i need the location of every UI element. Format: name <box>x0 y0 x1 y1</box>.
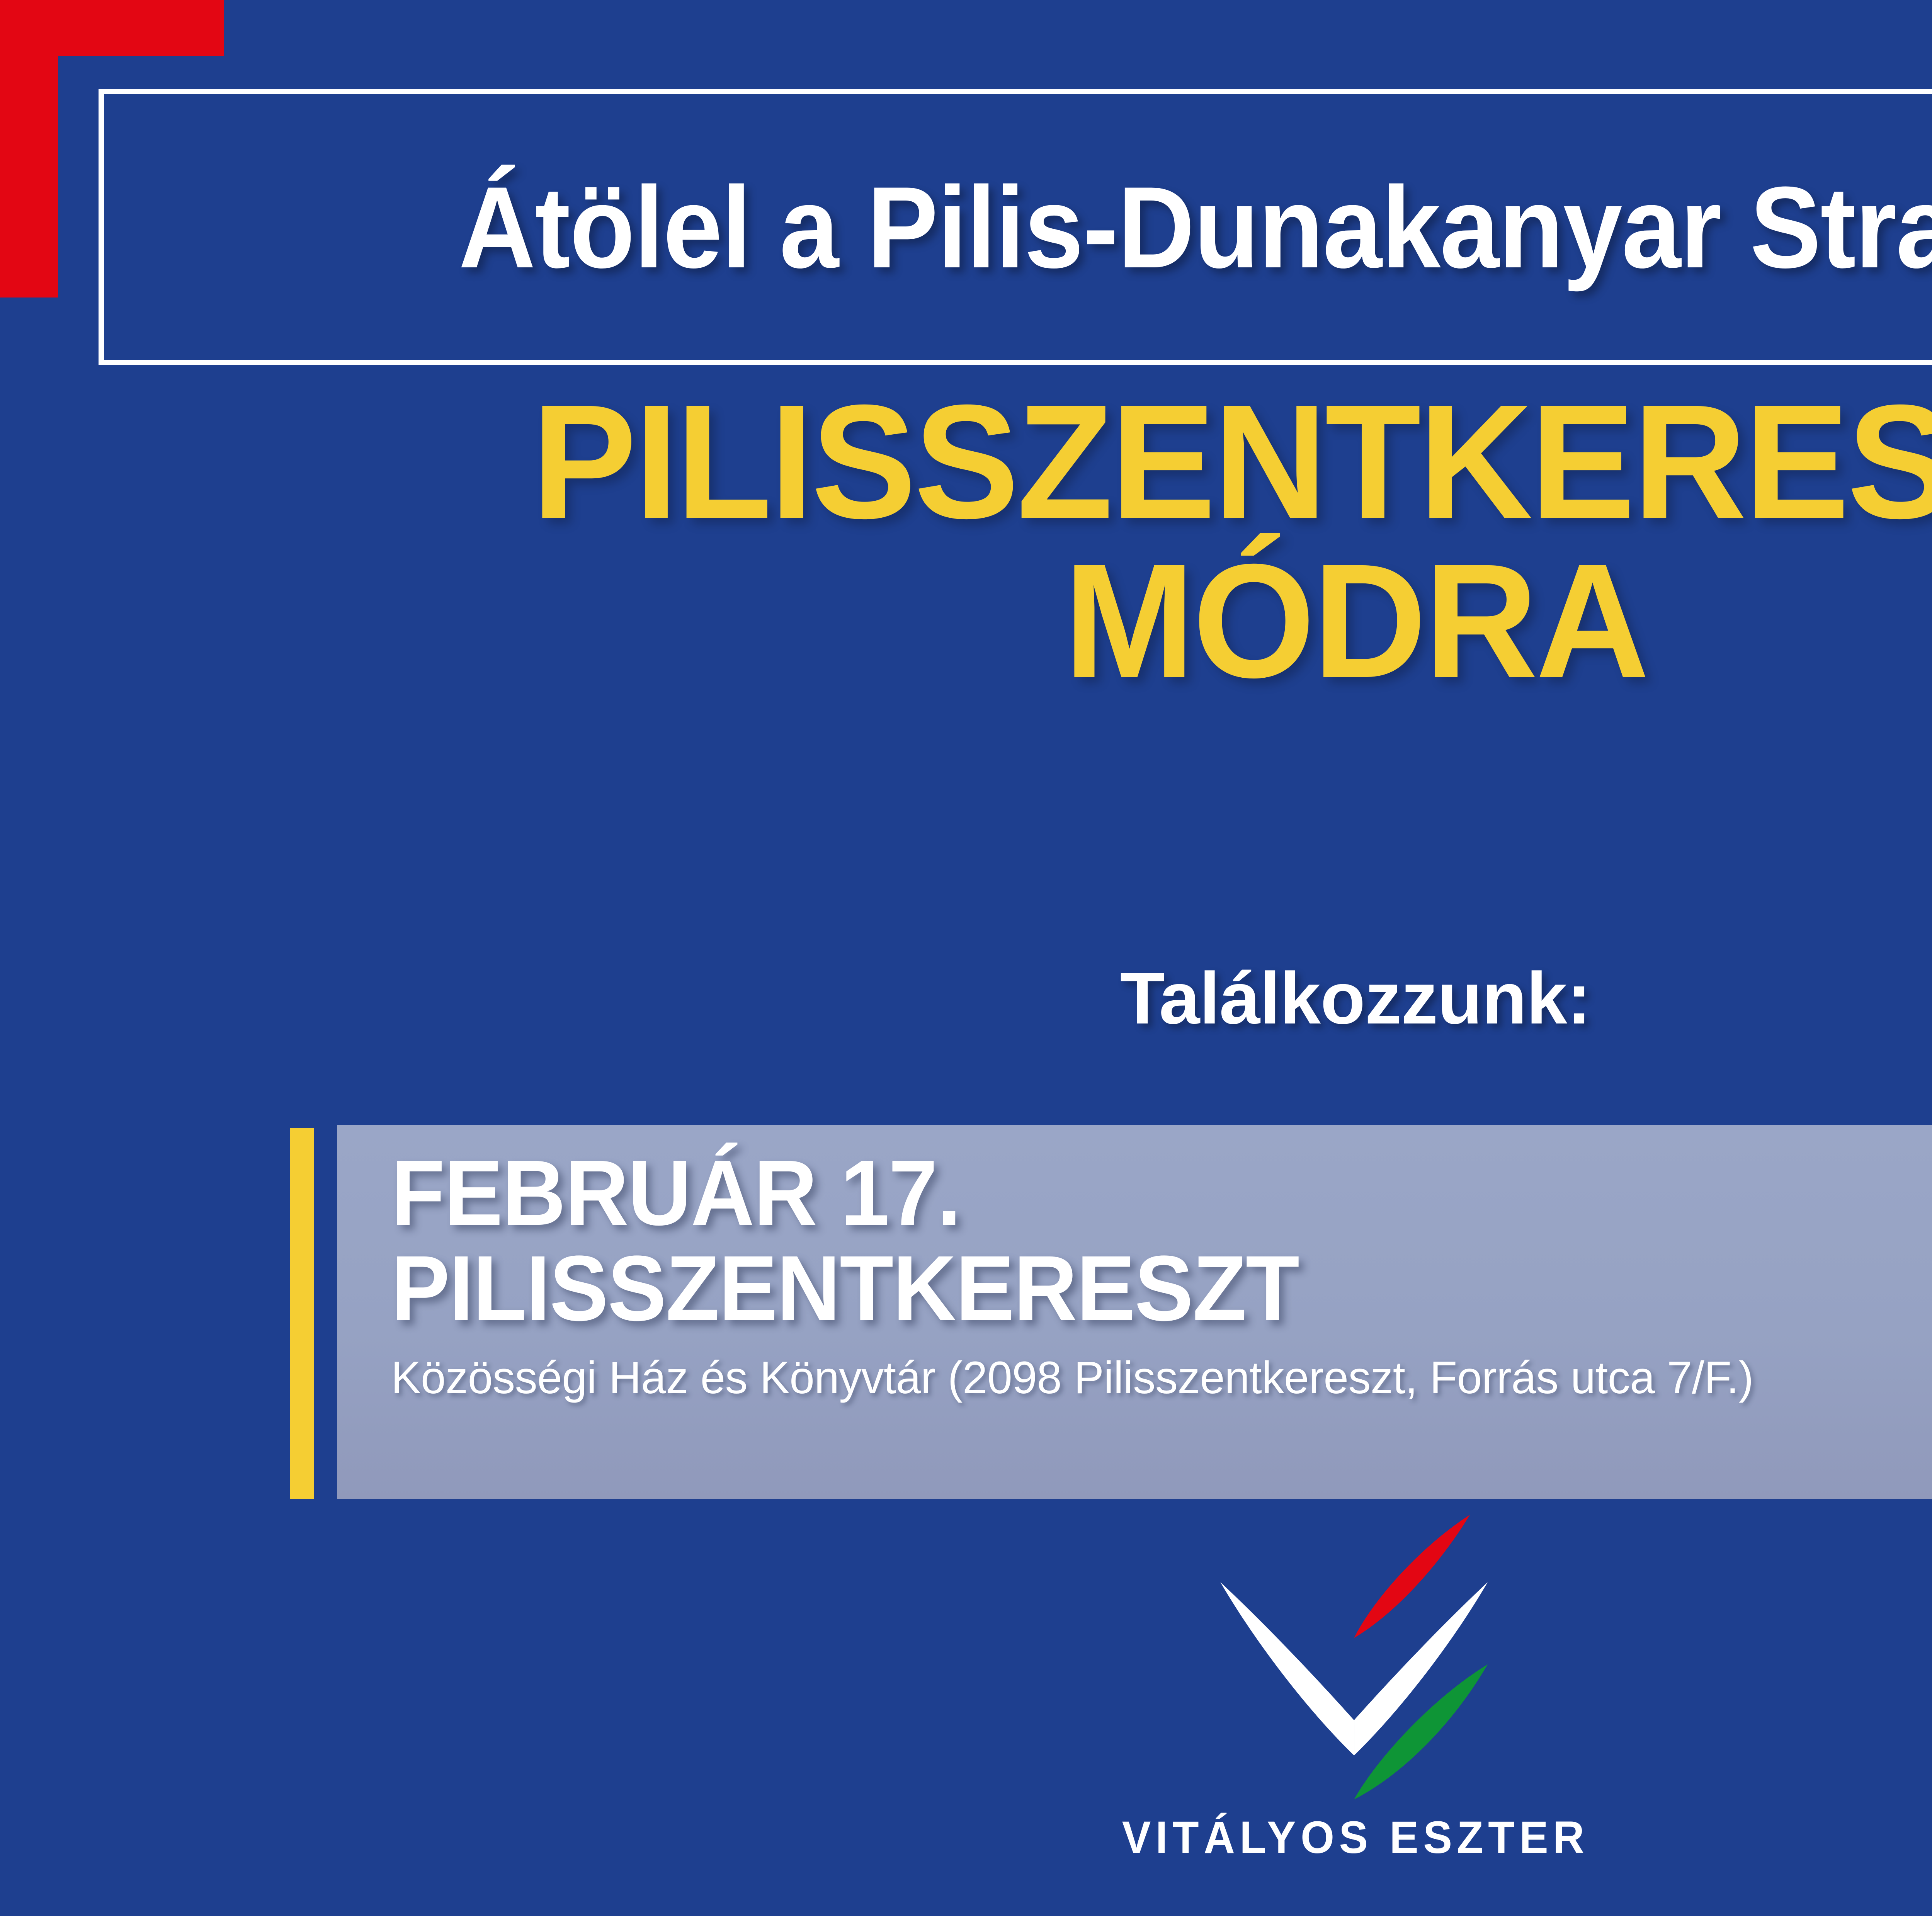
header-title: Átölel a Pilis-Dunakanyar Stratégia <box>459 169 1932 285</box>
headline-line-2: MÓDRA <box>41 542 1932 701</box>
headline-line-1: PILISSZENTKERESZTI <box>41 383 1932 542</box>
event-info-box: FEBRUÁR 17. PILISSZENTKERESZT Közösségi … <box>337 1125 1932 1499</box>
yellow-accent-bar <box>290 1128 314 1499</box>
poster-canvas: Átölel a Pilis-Dunakanyar Stratégia PILI… <box>0 0 1932 1916</box>
v-checkmark-logo-icon <box>1209 1509 1502 1804</box>
header-frame: Átölel a Pilis-Dunakanyar Stratégia <box>99 89 1932 365</box>
event-date: FEBRUÁR 17. <box>391 1145 1823 1241</box>
event-address: Közösségi Ház és Könyvtár (2098 Pilissze… <box>391 1352 1876 1404</box>
meet-label: Találkozzunk: <box>0 956 1932 1040</box>
logo-block: VITÁLYOS ESZTER <box>0 1509 1932 1864</box>
red-corner-accent-vertical <box>0 0 58 298</box>
logo-name: VITÁLYOS ESZTER <box>68 1811 1932 1864</box>
page-title: PILISSZENTKERESZTI MÓDRA <box>0 383 1932 700</box>
event-info-text: FEBRUÁR 17. PILISSZENTKERESZT Közösségi … <box>391 1145 1898 1404</box>
event-place: PILISSZENTKERESZT <box>391 1241 1823 1336</box>
